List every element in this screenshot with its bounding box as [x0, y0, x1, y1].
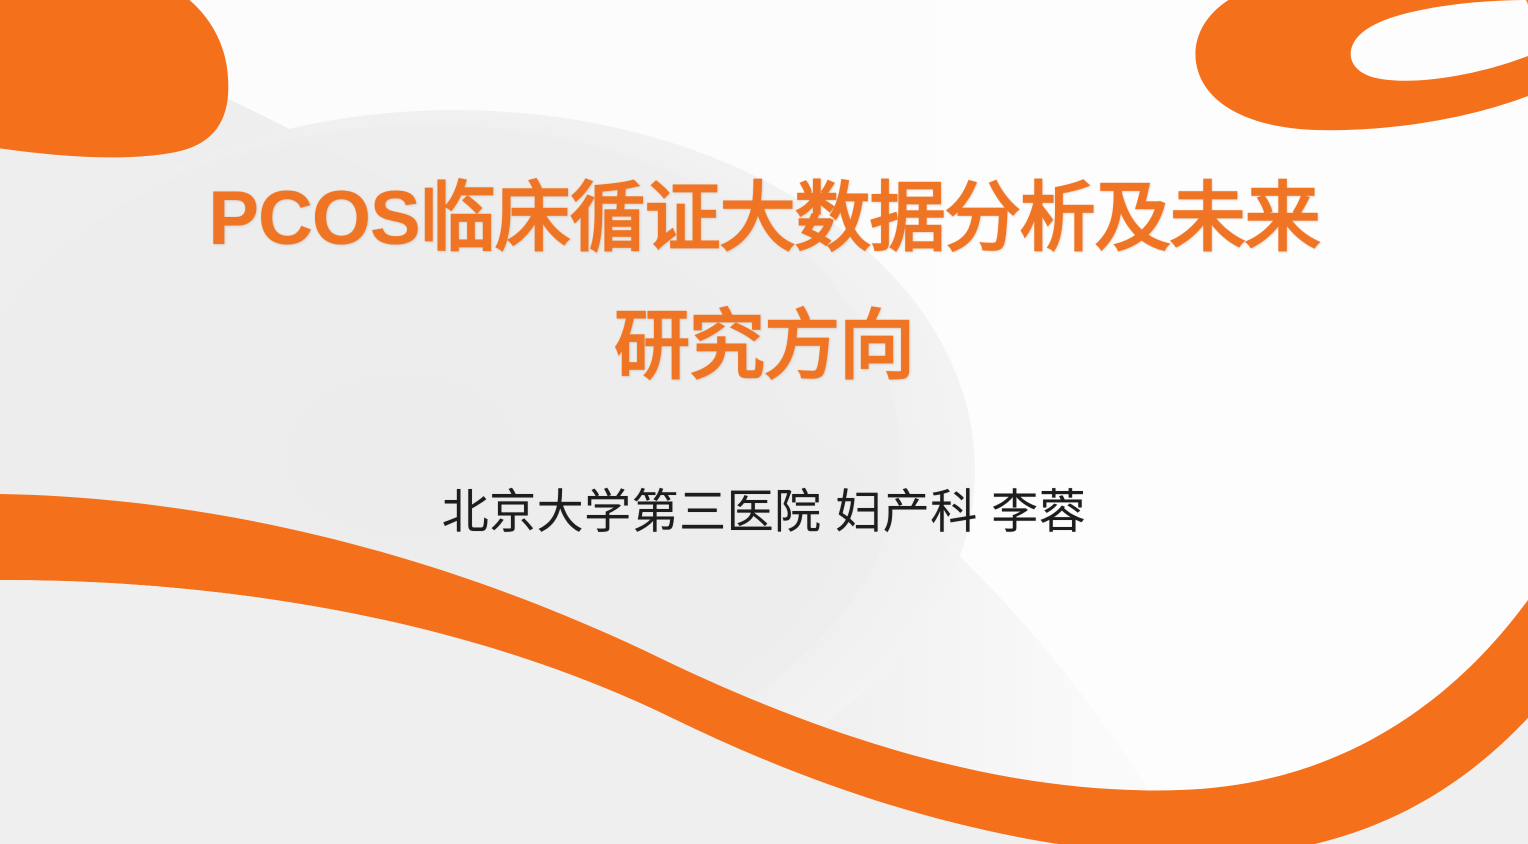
- slide-background-art: [0, 0, 1528, 844]
- presentation-slide: PCOS临床循证大数据分析及未来 研究方向 北京大学第三医院 妇产科 李蓉: [0, 0, 1528, 844]
- top-left-blob: [0, 0, 228, 157]
